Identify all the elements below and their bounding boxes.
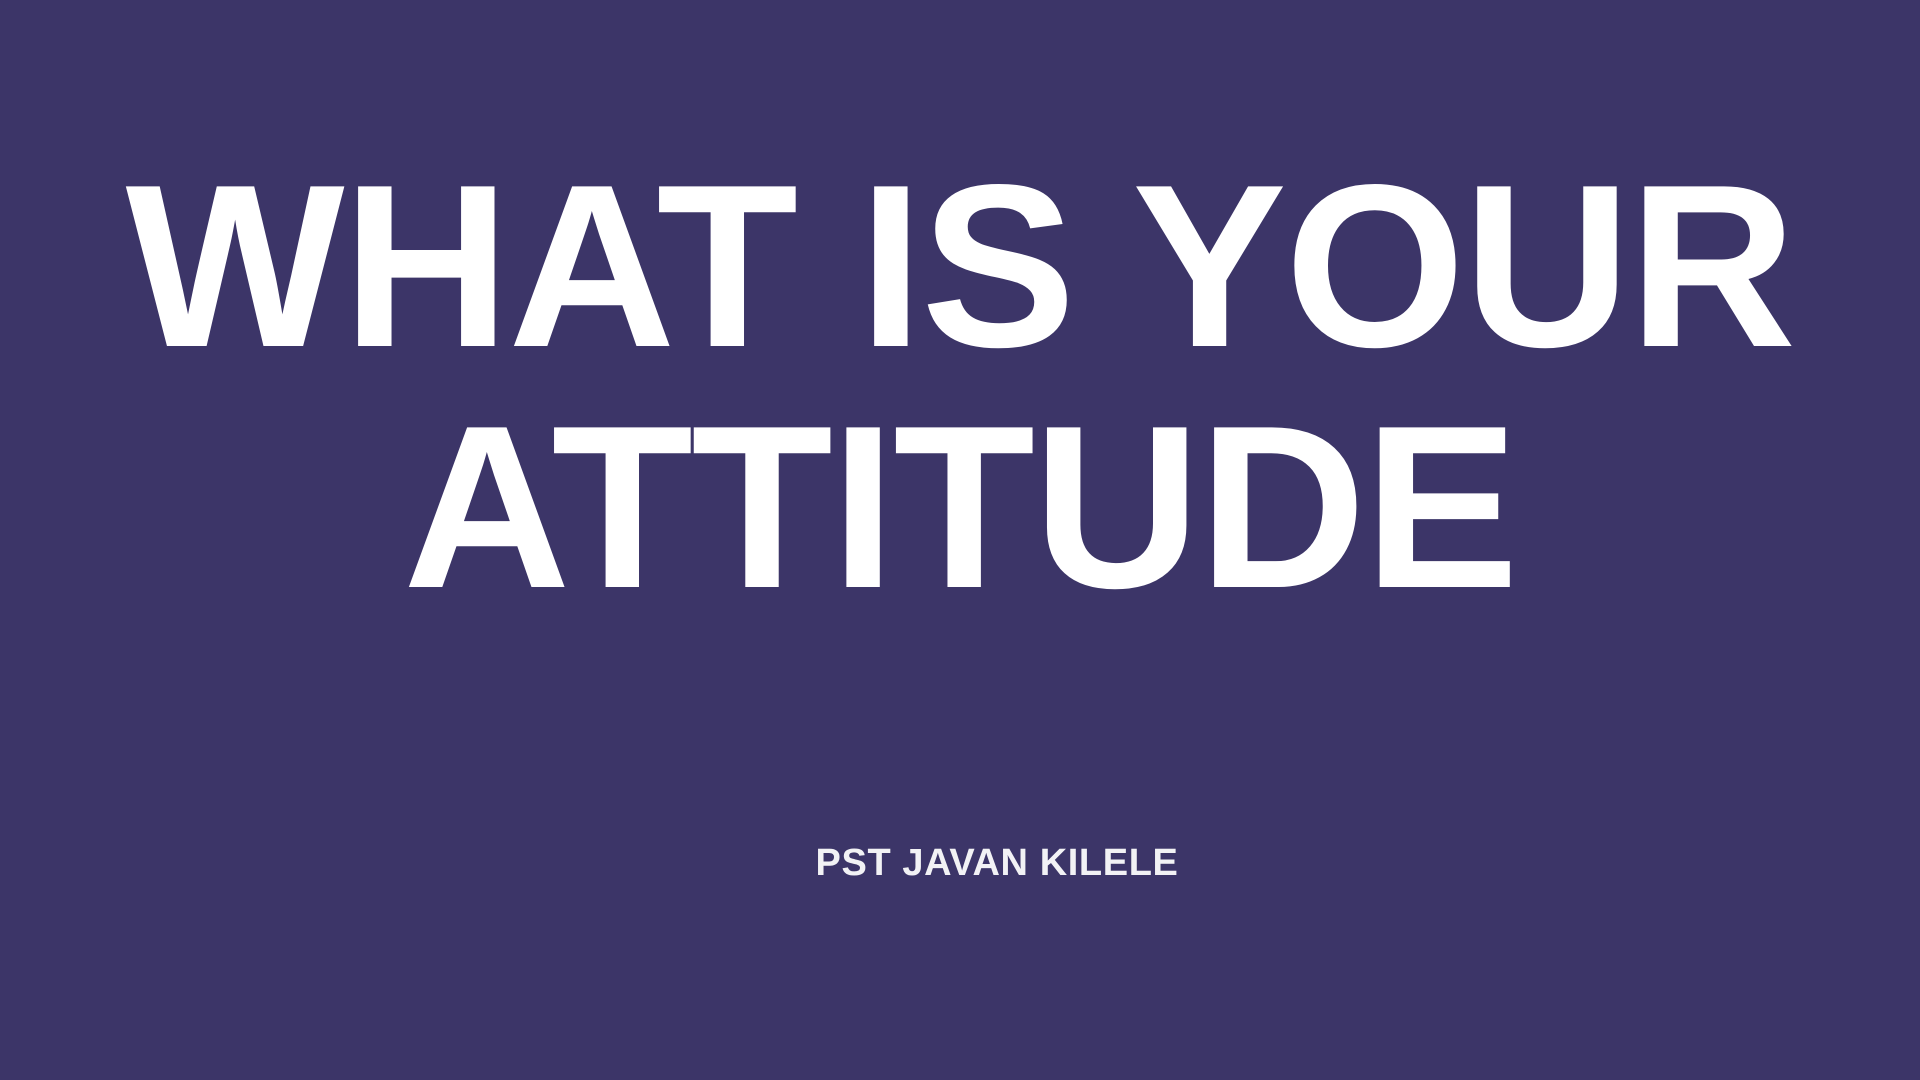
slide-subtitle: PST JAVAN KILELE [0, 842, 1920, 884]
title-line-1: WHAT IS YOUR [0, 146, 1920, 387]
presentation-slide: WHAT IS YOUR ATTITUDE PST JAVAN KILELE [0, 0, 1920, 1080]
presenter-name: PST JAVAN KILELE [816, 842, 1179, 884]
title-line-2: ATTITUDE [0, 387, 1920, 628]
slide-title: WHAT IS YOUR ATTITUDE [0, 146, 1920, 628]
